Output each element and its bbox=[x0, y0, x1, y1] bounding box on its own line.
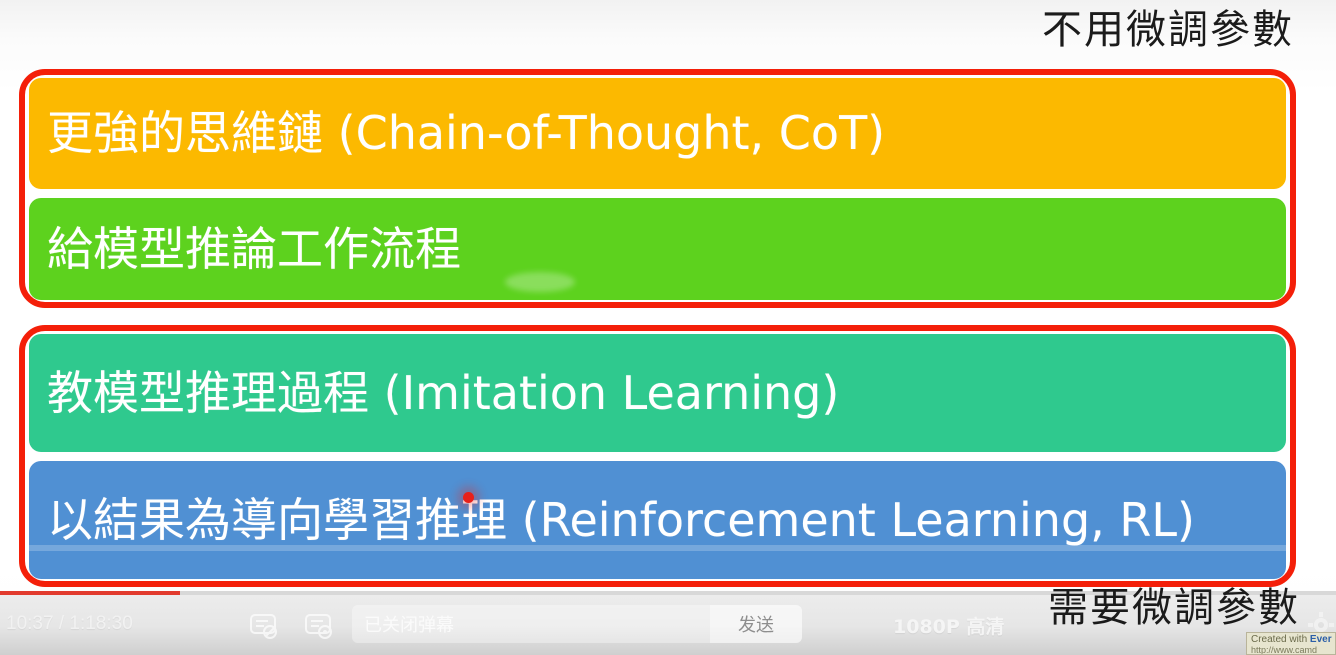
watermark-brand: Ever bbox=[1310, 634, 1332, 645]
bar-label-reinforcement-learning: 以結果為導向學習推理 (Reinforcement Learning, RL) bbox=[47, 496, 1195, 544]
send-button[interactable]: 发送 bbox=[710, 605, 802, 643]
time-display: 10:37 / 1:18:30 bbox=[6, 613, 133, 635]
bar-chain-of-thought: 更強的思維鏈 (Chain-of-Thought, CoT) bbox=[29, 78, 1286, 189]
danmaku-settings-icon[interactable] bbox=[303, 612, 333, 640]
bar-reasoning-workflow: 給模型推論工作流程 bbox=[29, 198, 1286, 300]
watermark-line-1: Created with Ever bbox=[1251, 634, 1332, 645]
watermark-prefix: Created with bbox=[1251, 634, 1310, 645]
bar-label-chain-of-thought: 更強的思維鏈 (Chain-of-Thought, CoT) bbox=[47, 109, 885, 157]
annotation-no-finetune: 不用微調參數 bbox=[1042, 10, 1294, 50]
laser-pointer-dot bbox=[463, 492, 474, 503]
progress-bar-fill bbox=[0, 591, 180, 595]
danmaku-input-placeholder: 已关闭弹幕 bbox=[352, 611, 454, 637]
watermark-line-2: http://www.camd bbox=[1251, 645, 1317, 655]
quality-selector[interactable]: 1080P 高清 bbox=[893, 612, 1004, 639]
danmaku-off-icon[interactable] bbox=[248, 612, 278, 640]
bar-imitation-learning: 教模型推理過程 (Imitation Learning) bbox=[29, 334, 1286, 452]
bar-reinforcement-learning: 以結果為導向學習推理 (Reinforcement Learning, RL) bbox=[29, 461, 1286, 579]
screen-recorder-watermark: Created with Ever http://www.camd bbox=[1246, 632, 1336, 655]
annotation-needs-finetune: 需要微調參數 bbox=[1048, 588, 1300, 628]
bar-label-imitation-learning: 教模型推理過程 (Imitation Learning) bbox=[47, 369, 839, 417]
bar-label-reasoning-workflow: 給模型推論工作流程 bbox=[47, 225, 461, 273]
slide-canvas: 不用微調參數 更強的思維鏈 (Chain-of-Thought, CoT) 給模… bbox=[0, 0, 1336, 655]
danmaku-input[interactable]: 已关闭弹幕 发送 bbox=[352, 605, 802, 643]
